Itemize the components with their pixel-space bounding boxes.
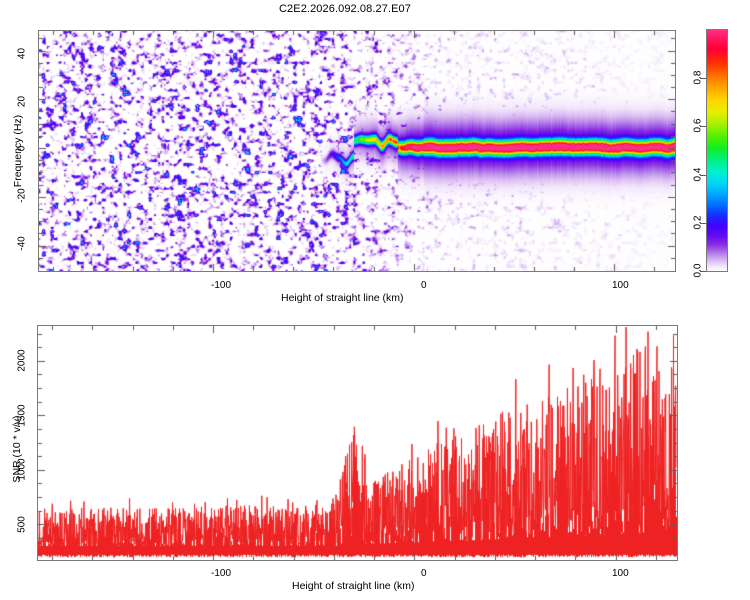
spectrogram-x-axis-label: Height of straight line (km) xyxy=(281,292,404,304)
colorbar-ticklabel-0: 0.0 xyxy=(693,256,704,286)
spectrogram-ytick-n40: -40 xyxy=(17,229,28,259)
snr-ytick-500: 500 xyxy=(17,512,28,538)
snr-ytick-1500: 1500 xyxy=(17,400,28,432)
snr-x-axis-label: Height of straight line (km) xyxy=(292,580,415,592)
snr-trace-image xyxy=(38,326,677,560)
figure-root: C2E2.2026.092.08.27.E07 Frequency (Hz) 4… xyxy=(0,0,750,600)
spectrogram-xtick-100: 100 xyxy=(612,280,629,291)
colorbar-gradient xyxy=(707,30,727,271)
spectrogram-image xyxy=(39,31,675,271)
colorbar-ticklabel-4: 0.8 xyxy=(693,63,704,93)
spectrogram-ytick-40: 40 xyxy=(17,41,28,67)
snr-ytick-1000: 1000 xyxy=(17,454,28,486)
snr-xtick-0: 0 xyxy=(421,568,427,579)
snr-xtick-n100: -100 xyxy=(211,568,231,579)
spectrogram-plot-area xyxy=(38,30,676,272)
spectrogram-xtick-0: 0 xyxy=(421,280,427,291)
spectrogram-ytick-0: 0 xyxy=(17,138,28,160)
colorbar-ticklabel-1: 0.2 xyxy=(693,208,704,238)
snr-plot-area xyxy=(37,325,678,561)
colorbar-ticklabel-2: 0.4 xyxy=(693,160,704,190)
colorbar-ticklabel-3: 0.6 xyxy=(693,111,704,141)
spectrogram-ytick-n20: -20 xyxy=(17,181,28,211)
spectrogram-ytick-20: 20 xyxy=(17,89,28,115)
snr-ytick-2000: 2000 xyxy=(17,345,28,377)
spectrogram-xtick-n100: -100 xyxy=(211,280,231,291)
colorbar-scale xyxy=(706,29,728,272)
page-title: C2E2.2026.092.08.27.E07 xyxy=(0,3,690,15)
snr-xtick-100: 100 xyxy=(612,568,629,579)
